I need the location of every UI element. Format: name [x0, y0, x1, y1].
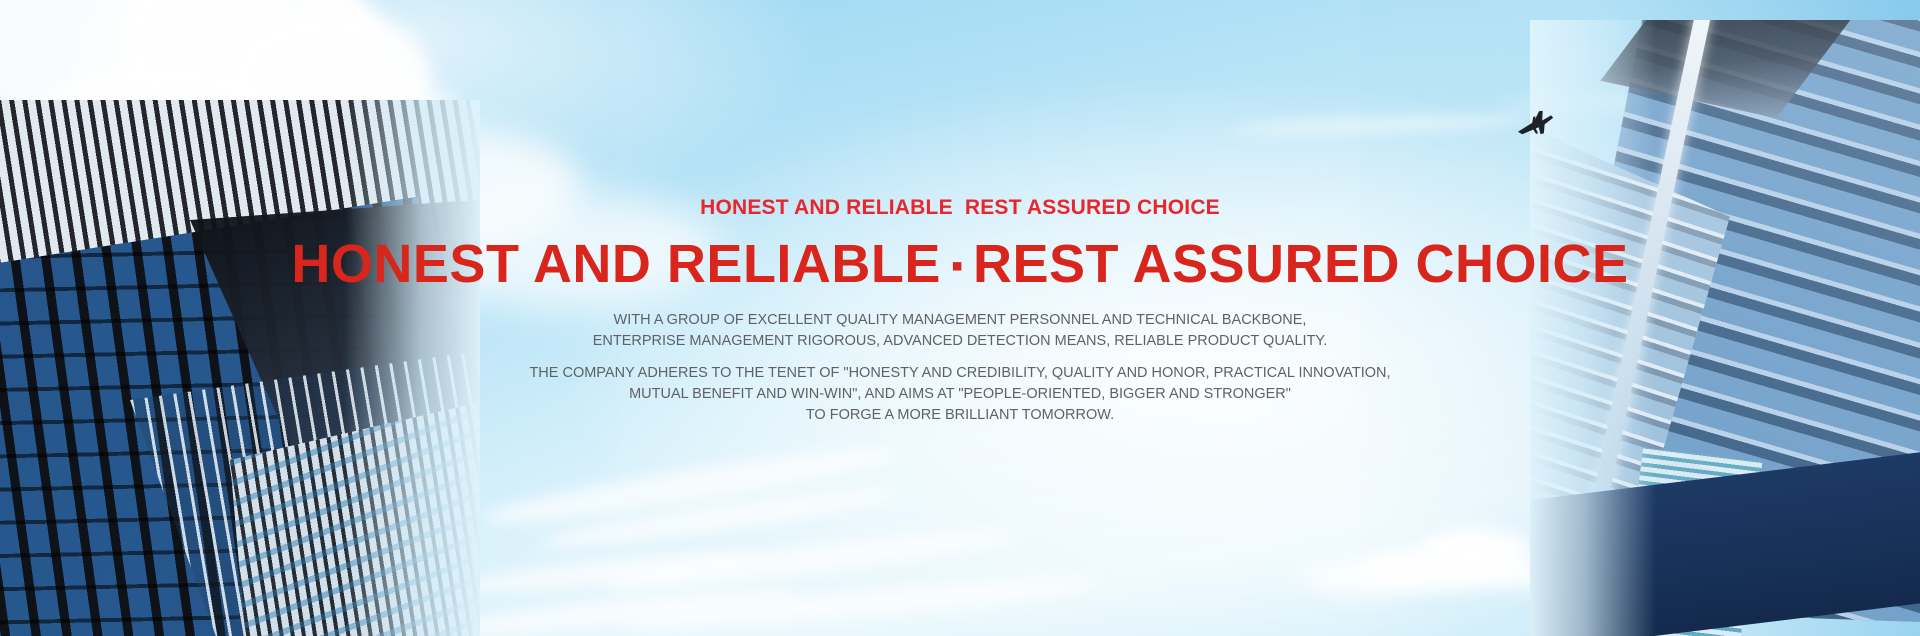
banner-eyebrow: HONEST AND RELIABLE REST ASSURED CHOICE — [0, 196, 1920, 220]
banner-headline: HONEST AND RELIABLE▪REST ASSURED CHOICE — [0, 236, 1920, 293]
paragraph-line: MUTUAL BENEFIT AND WIN-WIN", AND AIMS AT… — [0, 384, 1920, 405]
cloud — [1300, 560, 1430, 594]
paragraph-line: TO FORGE A MORE BRILLIANT TOMORROW. — [0, 405, 1920, 426]
headline-right-text: REST ASSURED CHOICE — [973, 234, 1629, 294]
paragraph-line: WITH A GROUP OF EXCELLENT QUALITY MANAGE… — [0, 310, 1920, 331]
hero-banner: HONEST AND RELIABLE REST ASSURED CHOICE … — [0, 0, 1920, 636]
headline-left-text: HONEST AND RELIABLE — [291, 234, 941, 294]
paragraph-line: THE COMPANY ADHERES TO THE TENET OF "HON… — [0, 363, 1920, 384]
headline-separator-icon: ▪ — [951, 247, 963, 285]
banner-paragraph: WITH A GROUP OF EXCELLENT QUALITY MANAGE… — [0, 310, 1920, 426]
paragraph-gap — [0, 352, 1920, 363]
paragraph-line: ENTERPRISE MANAGEMENT RIGOROUS, ADVANCED… — [0, 331, 1920, 352]
